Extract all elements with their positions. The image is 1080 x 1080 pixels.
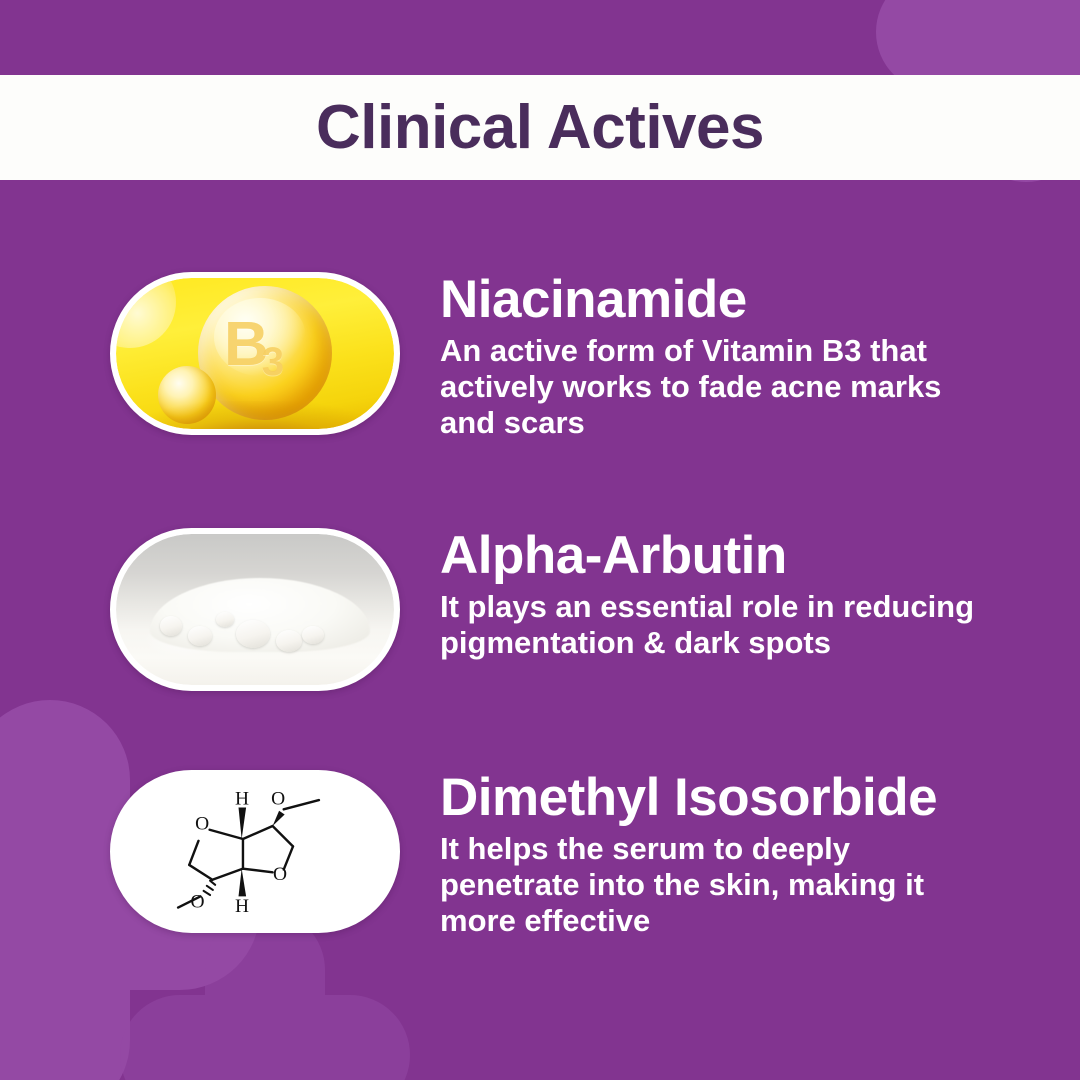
clinical-actives-poster: Clinical Actives B3 Niacinamide An act	[0, 0, 1080, 1080]
atom-label-h: H	[235, 896, 249, 917]
vitamin-b3-letter: B	[224, 310, 266, 379]
wedge-bond-methoxy-top	[273, 811, 285, 826]
ingredient-text-block: Alpha-Arbutin It plays an essential role…	[440, 528, 1080, 661]
ingredient-text-block: Dimethyl Isosorbide It helps the serum t…	[440, 770, 1080, 939]
ingredient-title: Alpha-Arbutin	[440, 528, 1020, 583]
decorative-cross-horizontal-arm	[120, 995, 410, 1080]
ingredient-thumbnail: O H O O H O	[110, 770, 400, 933]
ingredient-description: It helps the serum to deeply penetrate i…	[440, 831, 980, 939]
powder-lump	[188, 626, 212, 646]
vitamin-b3-artwork: B3	[116, 278, 394, 429]
atom-label-o: O	[273, 864, 287, 885]
vitamin-b3-number: 3	[262, 340, 281, 384]
bubble-icon	[116, 278, 176, 348]
vitamin-b3-droplet-image: B3	[116, 278, 394, 429]
vitamin-b3-label: B3	[224, 314, 285, 376]
ingredient-row-niacinamide: B3 Niacinamide An active form of Vitamin…	[0, 272, 1080, 441]
ingredient-description: It plays an essential role in reducing p…	[440, 589, 980, 661]
ingredient-title: Dimethyl Isosorbide	[440, 770, 1020, 825]
hashed-bond-methoxy-bottom	[204, 881, 216, 895]
header-band: Clinical Actives	[0, 75, 1080, 180]
chemical-structure-image: O H O O H O	[116, 776, 394, 927]
ingredient-text-block: Niacinamide An active form of Vitamin B3…	[440, 272, 1080, 441]
wedge-bond-top	[239, 807, 247, 838]
chemical-structure-artwork: O H O O H O	[116, 776, 394, 927]
powder-lump	[216, 612, 234, 627]
atom-label-o: O	[271, 789, 285, 810]
page-title: Clinical Actives	[316, 97, 764, 159]
ingredient-thumbnail	[110, 528, 400, 691]
artwork-shadow	[116, 401, 394, 429]
ingredient-row-dimethyl-isosorbide: O H O O H O Dimethyl Isosorbide It helps…	[0, 770, 1080, 939]
white-powder-image	[116, 534, 394, 685]
white-powder-artwork	[116, 534, 394, 685]
molecule-diagram-icon: O H O O H O	[116, 776, 394, 927]
wedge-bond-bottom	[239, 869, 247, 897]
ingredient-description: An active form of Vitamin B3 that active…	[440, 333, 980, 441]
ingredient-thumbnail: B3	[110, 272, 400, 435]
atom-label-h: H	[235, 789, 249, 810]
powder-lump	[160, 616, 182, 636]
atom-label-o: O	[195, 814, 209, 835]
ingredient-row-alpha-arbutin: Alpha-Arbutin It plays an essential role…	[0, 528, 1080, 691]
powder-lump	[236, 620, 270, 648]
atom-label-o: O	[191, 892, 205, 913]
powder-lump	[276, 630, 302, 652]
ingredient-title: Niacinamide	[440, 272, 1020, 327]
powder-lump	[302, 626, 324, 644]
